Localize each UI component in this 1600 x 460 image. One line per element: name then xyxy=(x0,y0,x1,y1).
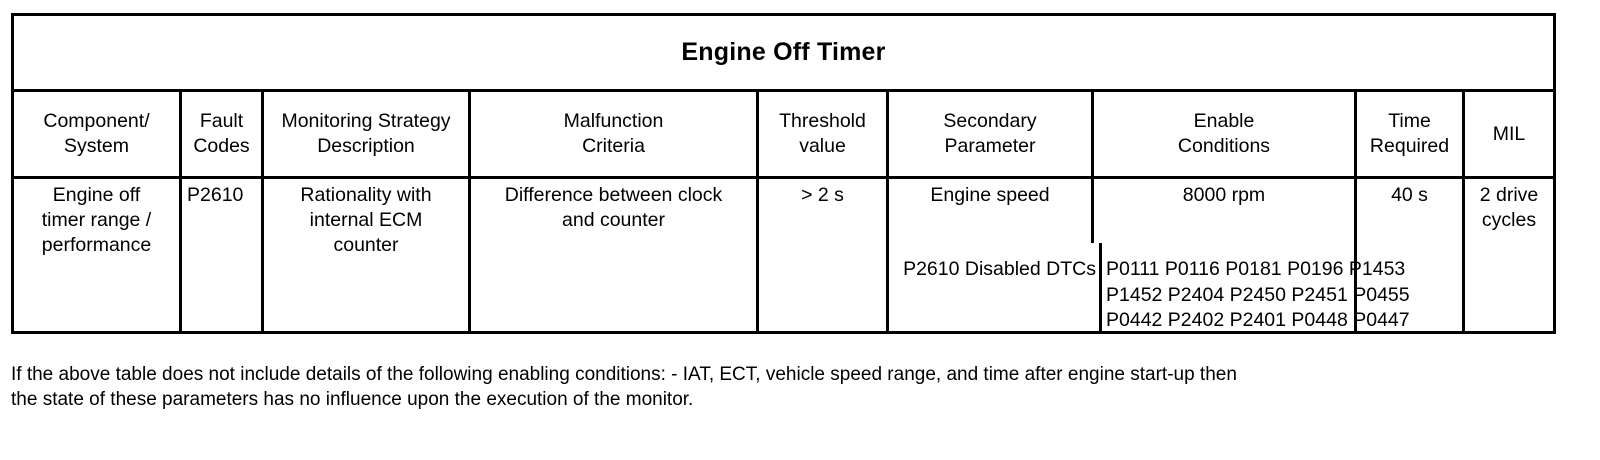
cell-secondary-parameter: Engine speed xyxy=(889,183,1091,208)
table-title-band: Engine Off Timer xyxy=(14,16,1553,92)
header-monitoring-strategy-line1: Monitoring Strategy xyxy=(281,109,450,134)
header-fault-codes: Fault Codes xyxy=(182,92,261,176)
cell-monitoring-strategy-line2: internal ECM xyxy=(267,208,465,233)
header-fault-codes-line2: Codes xyxy=(193,134,249,159)
engine-off-timer-table: Engine Off Timer Component/ System Fault… xyxy=(11,13,1556,334)
header-mil: MIL xyxy=(1465,92,1553,176)
cell-component-system-line1: Engine off xyxy=(17,183,176,208)
table-title: Engine Off Timer xyxy=(681,38,885,67)
cell-component-system: Engine off timer range / performance xyxy=(14,183,179,258)
header-secondary-parameter-line1: Secondary xyxy=(943,109,1036,134)
cell-time-required: 40 s xyxy=(1357,183,1462,208)
header-monitoring-strategy-line2: Description xyxy=(317,134,415,159)
header-time-required-line1: Time xyxy=(1388,109,1431,134)
header-component-system-line1: Component/ xyxy=(43,109,149,134)
cell-component-system-line3: performance xyxy=(17,233,176,258)
footnote-line-2: the state of these parameters has no inf… xyxy=(11,388,1571,413)
cell-enable-conditions-value: 8000 rpm xyxy=(1097,183,1351,208)
header-threshold-value: Threshold value xyxy=(759,92,886,176)
cell-malfunction-criteria-line1: Difference between clock xyxy=(474,183,753,208)
cell-mil-line2: cycles xyxy=(1468,208,1550,233)
header-threshold-value-line2: value xyxy=(799,134,846,159)
header-malfunction-criteria-line2: Criteria xyxy=(582,134,645,159)
disabled-dtcs-row: P1452 P2404 P2450 P2451 P0455 xyxy=(1106,283,1466,309)
table-header-row: Component/ System Fault Codes Monitoring… xyxy=(14,92,1553,179)
cell-enable-conditions: 8000 rpm xyxy=(1094,183,1354,208)
cell-mil: 2 drive cycles xyxy=(1465,183,1553,233)
header-malfunction-criteria: Malfunction Criteria xyxy=(471,92,756,176)
header-component-system: Component/ System xyxy=(14,92,179,176)
disabled-dtcs-list: P0111 P0116 P0181 P0196 P1453 P1452 P240… xyxy=(1106,257,1466,334)
disabled-dtcs-row: P0111 P0116 P0181 P0196 P1453 xyxy=(1106,257,1466,283)
cell-monitoring-strategy-line3: counter xyxy=(267,233,465,258)
dtc-block-left-rule xyxy=(1099,243,1102,334)
table-body-row: Engine off timer range / performance P26… xyxy=(14,179,1553,331)
cell-threshold-value: > 2 s xyxy=(759,183,886,208)
header-monitoring-strategy: Monitoring Strategy Description xyxy=(264,92,468,176)
header-enable-conditions: Enable Conditions xyxy=(1094,92,1354,176)
disabled-dtcs-row: P0442 P2402 P2401 P0448 P0447 xyxy=(1106,308,1466,334)
body-divider-1 xyxy=(179,179,182,331)
header-component-system-line2: System xyxy=(64,134,129,159)
cell-monitoring-strategy-line1: Rationality with xyxy=(267,183,465,208)
footnote-line-1: If the above table does not include deta… xyxy=(11,363,1571,388)
header-fault-codes-line1: Fault xyxy=(200,109,243,134)
cell-secondary-parameter-value: Engine speed xyxy=(892,183,1088,208)
cell-threshold-value-value: > 2 s xyxy=(762,183,883,208)
cell-fault-codes: P2610 xyxy=(184,183,261,208)
header-malfunction-criteria-line1: Malfunction xyxy=(564,109,664,134)
header-enable-conditions-line1: Enable xyxy=(1194,109,1255,134)
cell-time-required-value: 40 s xyxy=(1360,183,1459,208)
page-root: Engine Off Timer Component/ System Fault… xyxy=(0,0,1600,460)
header-time-required-line2: Required xyxy=(1370,134,1449,159)
cell-malfunction-criteria: Difference between clock and counter xyxy=(471,183,756,233)
header-enable-conditions-line2: Conditions xyxy=(1178,134,1270,159)
header-secondary-parameter-line2: Parameter xyxy=(944,134,1035,159)
cell-mil-line1: 2 drive xyxy=(1468,183,1550,208)
header-mil-line1: MIL xyxy=(1493,122,1526,147)
header-threshold-value-line1: Threshold xyxy=(779,109,866,134)
cell-malfunction-criteria-line2: and counter xyxy=(474,208,753,233)
disabled-dtcs-label: P2610 Disabled DTCs xyxy=(714,257,1096,282)
cell-monitoring-strategy: Rationality with internal ECM counter xyxy=(264,183,468,258)
cell-fault-codes-value: P2610 xyxy=(187,183,258,208)
header-time-required: Time Required xyxy=(1357,92,1462,176)
header-secondary-parameter: Secondary Parameter xyxy=(889,92,1091,176)
footnote-caption: If the above table does not include deta… xyxy=(11,363,1571,412)
cell-component-system-line2: timer range / xyxy=(17,208,176,233)
